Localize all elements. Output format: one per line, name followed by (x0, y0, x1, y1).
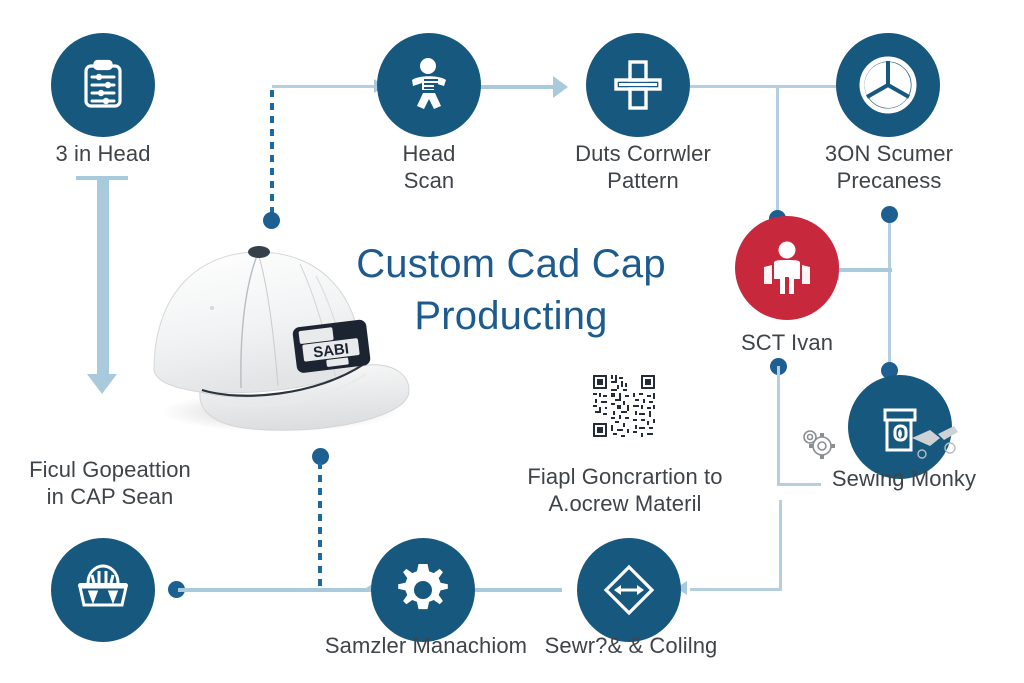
gear-icon (394, 561, 452, 619)
node-head-scan[interactable] (377, 33, 481, 137)
node-label-cutting: Sewr?& & Colilng (516, 633, 746, 660)
body-scan-person-icon (400, 56, 458, 114)
node-cutting[interactable] (577, 538, 681, 642)
connector-dotted-measure (270, 90, 274, 218)
node-label-sewing: Sewing Monky (804, 466, 1004, 493)
connector-finishing-to-sampler (178, 588, 374, 592)
connector-dot-measure (263, 212, 280, 229)
pie-segment-circle-icon (857, 54, 919, 116)
arrow-down-to-finishing (87, 374, 117, 394)
connector-dotted-cap-down (318, 462, 322, 590)
node-label-measure: 3 in Head (3, 141, 203, 168)
page-title: Custom Cad Cap Producting (346, 238, 676, 342)
node-finishing[interactable] (51, 538, 155, 642)
node-measure[interactable] (51, 33, 155, 137)
connector-measure-cap-stem (97, 176, 109, 376)
node-label-finishing: Ficul Gopeattion in CAP Sean (5, 457, 215, 511)
node-label-pattern: Duts Corrwler Pattern (533, 141, 753, 195)
connector-branch-down-left (776, 85, 779, 215)
connector-sct-down (777, 366, 780, 486)
press-machine-icon (610, 57, 666, 113)
connector-measure-to-headscan (272, 85, 376, 88)
arrow-to-pattern (553, 76, 568, 98)
node-label-sampler: Samzler Manachiom (311, 633, 541, 660)
connector-sewing-to-cutting (690, 588, 782, 591)
cap-press-icon (72, 561, 134, 619)
node-sct-ivan[interactable] (735, 216, 839, 320)
node-label-scanner: 3ON Scumer Precaness (789, 141, 989, 195)
diamond-arrows-icon (600, 561, 658, 619)
connector-pattern-to-scanner (690, 85, 838, 88)
note-material: Fiapl Goncrartion to A.ocrew Materil (500, 464, 750, 518)
qr-code (591, 373, 657, 439)
connector-dot-scanner-down (881, 206, 898, 223)
connector-headscan-to-pattern (478, 85, 556, 89)
person-standing-icon (758, 239, 816, 297)
connector-into-sct-ivan (838, 268, 892, 272)
connector-scanner-down (888, 212, 891, 372)
infographic-canvas: SABI (0, 0, 1024, 683)
gear-decoration-icon (800, 424, 868, 469)
node-pattern[interactable] (586, 33, 690, 137)
node-scanner[interactable] (836, 33, 940, 137)
node-label-head-scan: Head Scan (329, 141, 529, 195)
node-sampler[interactable] (371, 538, 475, 642)
clipboard-checklist-icon (75, 57, 131, 113)
wrench-decoration-icon (908, 418, 964, 467)
connector-sewing-down (779, 500, 782, 590)
connector-cutting-to-sampler (466, 588, 562, 592)
node-label-sct-ivan: SCT Ivan (697, 330, 877, 357)
